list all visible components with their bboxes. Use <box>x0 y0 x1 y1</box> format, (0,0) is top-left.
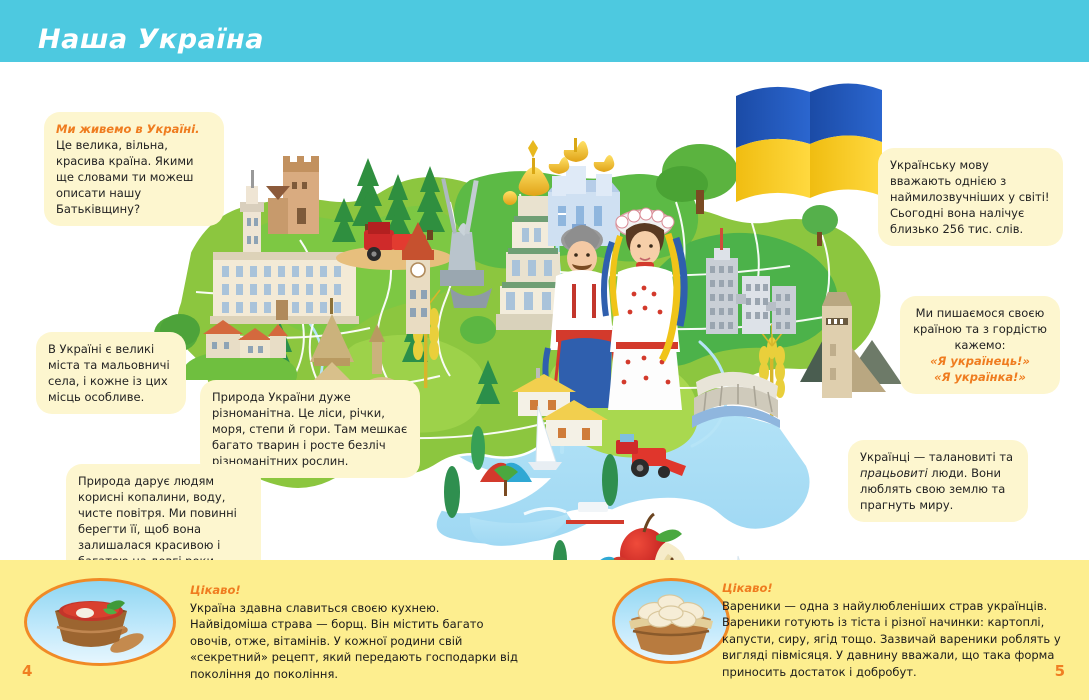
bowl-of-varenyky <box>612 578 730 664</box>
callout-text-italic: працьовиті <box>860 466 928 480</box>
callout-text: В Україні є великі міста та мальовничі с… <box>48 342 170 404</box>
page-root: Наша Україна <box>0 0 1089 700</box>
callout-we-live-in-ukraine: Ми живемо в Україні. Це велика, вільна, … <box>44 112 224 226</box>
fact-borscht: Цікаво! Україна здавна славиться своєю к… <box>190 582 520 682</box>
fact-text: Вареники — одна з найулюбленіших страв у… <box>722 599 1061 679</box>
lviv-university-building <box>210 252 359 324</box>
page-number-left: 4 <box>22 662 32 680</box>
fact-heading: Цікаво! <box>722 580 1078 597</box>
callout-we-are-proud: Ми пишаємося своєю країною та з гордістю… <box>900 296 1060 394</box>
callout-text: Це велика, вільна, красива країна. Якими… <box>56 138 194 216</box>
fact-varenyky: Цікаво! Вареники — одна з найулюбленіших… <box>722 580 1078 680</box>
callout-text-before: Українці — талановиті та <box>860 450 1013 464</box>
callout-cities-and-villages: В Україні є великі міста та мальовничі с… <box>36 332 186 414</box>
callout-accent-line-2: «Я українка!» <box>912 369 1048 385</box>
page-number-right: 5 <box>1055 662 1065 680</box>
callout-ukrainian-language: Українську мову вважають однією з наймил… <box>878 148 1063 246</box>
callout-ukrainians-are-talented: Українці — талановиті та працьовиті люди… <box>848 440 1028 522</box>
apple <box>620 514 686 560</box>
fact-text: Україна здавна славиться своєю кухнею. Н… <box>190 601 518 681</box>
town-hall-tower <box>240 170 264 266</box>
callout-highlight: Ми живемо в Україні. <box>56 121 212 137</box>
castle-tower <box>266 156 319 234</box>
fact-heading: Цікаво! <box>190 582 520 599</box>
callout-accent-line-1: «Я українець!» <box>912 353 1048 369</box>
borscht-bowl-with-spoon <box>24 578 176 666</box>
callout-text: Ми пишаємося своєю країною та з гордістю… <box>913 306 1047 352</box>
callout-text: Українську мову вважають однією з наймил… <box>890 158 1050 236</box>
callout-text: Природа дарує людям корисні копалини, во… <box>78 474 237 568</box>
page-title: Наша Україна <box>38 24 264 55</box>
callout-text: Природа України дуже різноманітна. Це лі… <box>212 390 407 468</box>
ukrainian-flags <box>736 83 882 202</box>
